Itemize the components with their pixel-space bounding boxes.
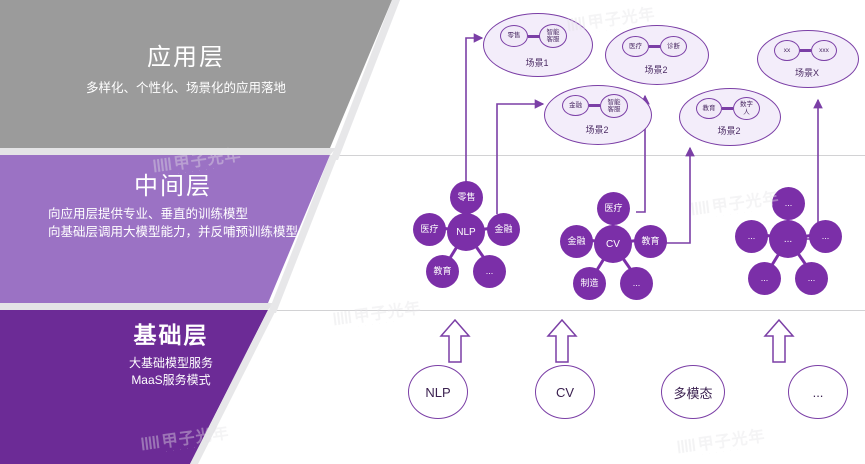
nlp-spoke-left[interactable]: 医疗 xyxy=(413,213,446,246)
base-model-nlp[interactable]: NLP xyxy=(408,365,468,419)
scene-1-link xyxy=(528,35,540,38)
group-scene-2-finance[interactable] xyxy=(544,85,652,145)
up-arrow-nlp xyxy=(441,320,469,362)
cv-spoke-bottom-left[interactable]: 制造 xyxy=(573,267,606,300)
cv-spoke-right[interactable]: 教育 xyxy=(634,225,667,258)
scene-x-link xyxy=(800,49,811,52)
scene-2-education-link xyxy=(722,107,733,110)
scene-2-finance-link xyxy=(589,104,600,107)
other-spoke-left[interactable]: ... xyxy=(735,220,768,253)
base-model-other[interactable]: ... xyxy=(788,365,848,419)
other-cluster-hub[interactable]: ... xyxy=(769,220,807,258)
scene-2-medical-label: 场景2 xyxy=(605,63,707,76)
scene-2-education-node-1[interactable]: 数字 人 xyxy=(733,97,760,120)
scene-1-node-1[interactable]: 智能 客服 xyxy=(539,24,567,48)
architecture-graph: 零售 智能 客服 场景1 医疗 诊断 场景2 xx xxx 场景X 金融 智能 … xyxy=(0,0,865,464)
base-model-multimodal[interactable]: 多模态 xyxy=(661,365,725,419)
base-model-cv[interactable]: CV xyxy=(535,365,595,419)
nlp-spoke-bottom-right[interactable]: ... xyxy=(473,255,506,288)
scene-2-finance-node-1[interactable]: 智能 客服 xyxy=(600,94,628,118)
group-scene-2-education[interactable] xyxy=(679,88,781,146)
scene-x-node-0[interactable]: xx xyxy=(774,40,800,61)
scene-2-education-label: 场景2 xyxy=(679,124,779,137)
nlp-cluster-hub[interactable]: NLP xyxy=(447,213,485,251)
arrow-finance-to-scene2-finance xyxy=(497,104,543,214)
scene-2-finance-label: 场景2 xyxy=(544,123,650,136)
diagram-canvas: 应用层 多样化、个性化、场景化的应用落地 中间层 向应用层提供专业、垂直的训练模… xyxy=(0,0,865,464)
nlp-spoke-right[interactable]: 金融 xyxy=(487,213,520,246)
other-spoke-right[interactable]: ... xyxy=(809,220,842,253)
group-scene-x[interactable] xyxy=(757,30,859,88)
scene-2-medical-node-0[interactable]: 医疗 xyxy=(622,36,649,57)
arrow-retail-to-scene1 xyxy=(466,38,482,196)
cv-spoke-left[interactable]: 金融 xyxy=(560,225,593,258)
cv-spoke-bottom-right[interactable]: ... xyxy=(620,267,653,300)
base-up-arrows xyxy=(441,320,793,362)
scene-1-label: 场景1 xyxy=(483,56,591,69)
scene-x-node-1[interactable]: xxx xyxy=(811,40,837,61)
cv-cluster-hub[interactable]: CV xyxy=(594,225,632,263)
other-spoke-top[interactable]: ... xyxy=(772,187,805,220)
up-arrow-cv xyxy=(548,320,576,362)
other-spoke-bottom-left[interactable]: ... xyxy=(748,262,781,295)
cv-spoke-top[interactable]: 医疗 xyxy=(597,192,630,225)
scene-2-education-node-0[interactable]: 教育 xyxy=(696,98,722,119)
scene-2-finance-node-0[interactable]: 金融 xyxy=(562,95,589,116)
scene-x-label: 场景X xyxy=(757,66,857,79)
scene-1-node-0[interactable]: 零售 xyxy=(500,25,528,47)
nlp-spoke-bottom-left[interactable]: 教育 xyxy=(426,255,459,288)
scene-2-medical-node-1[interactable]: 诊断 xyxy=(660,36,687,57)
scene-2-medical-link xyxy=(649,45,660,48)
group-scene-2-medical[interactable] xyxy=(605,25,709,85)
other-spoke-bottom-right[interactable]: ... xyxy=(795,262,828,295)
nlp-spoke-top[interactable]: 零售 xyxy=(450,181,483,214)
up-arrow-multimodal xyxy=(765,320,793,362)
arrow-other-to-scenex xyxy=(806,100,818,239)
